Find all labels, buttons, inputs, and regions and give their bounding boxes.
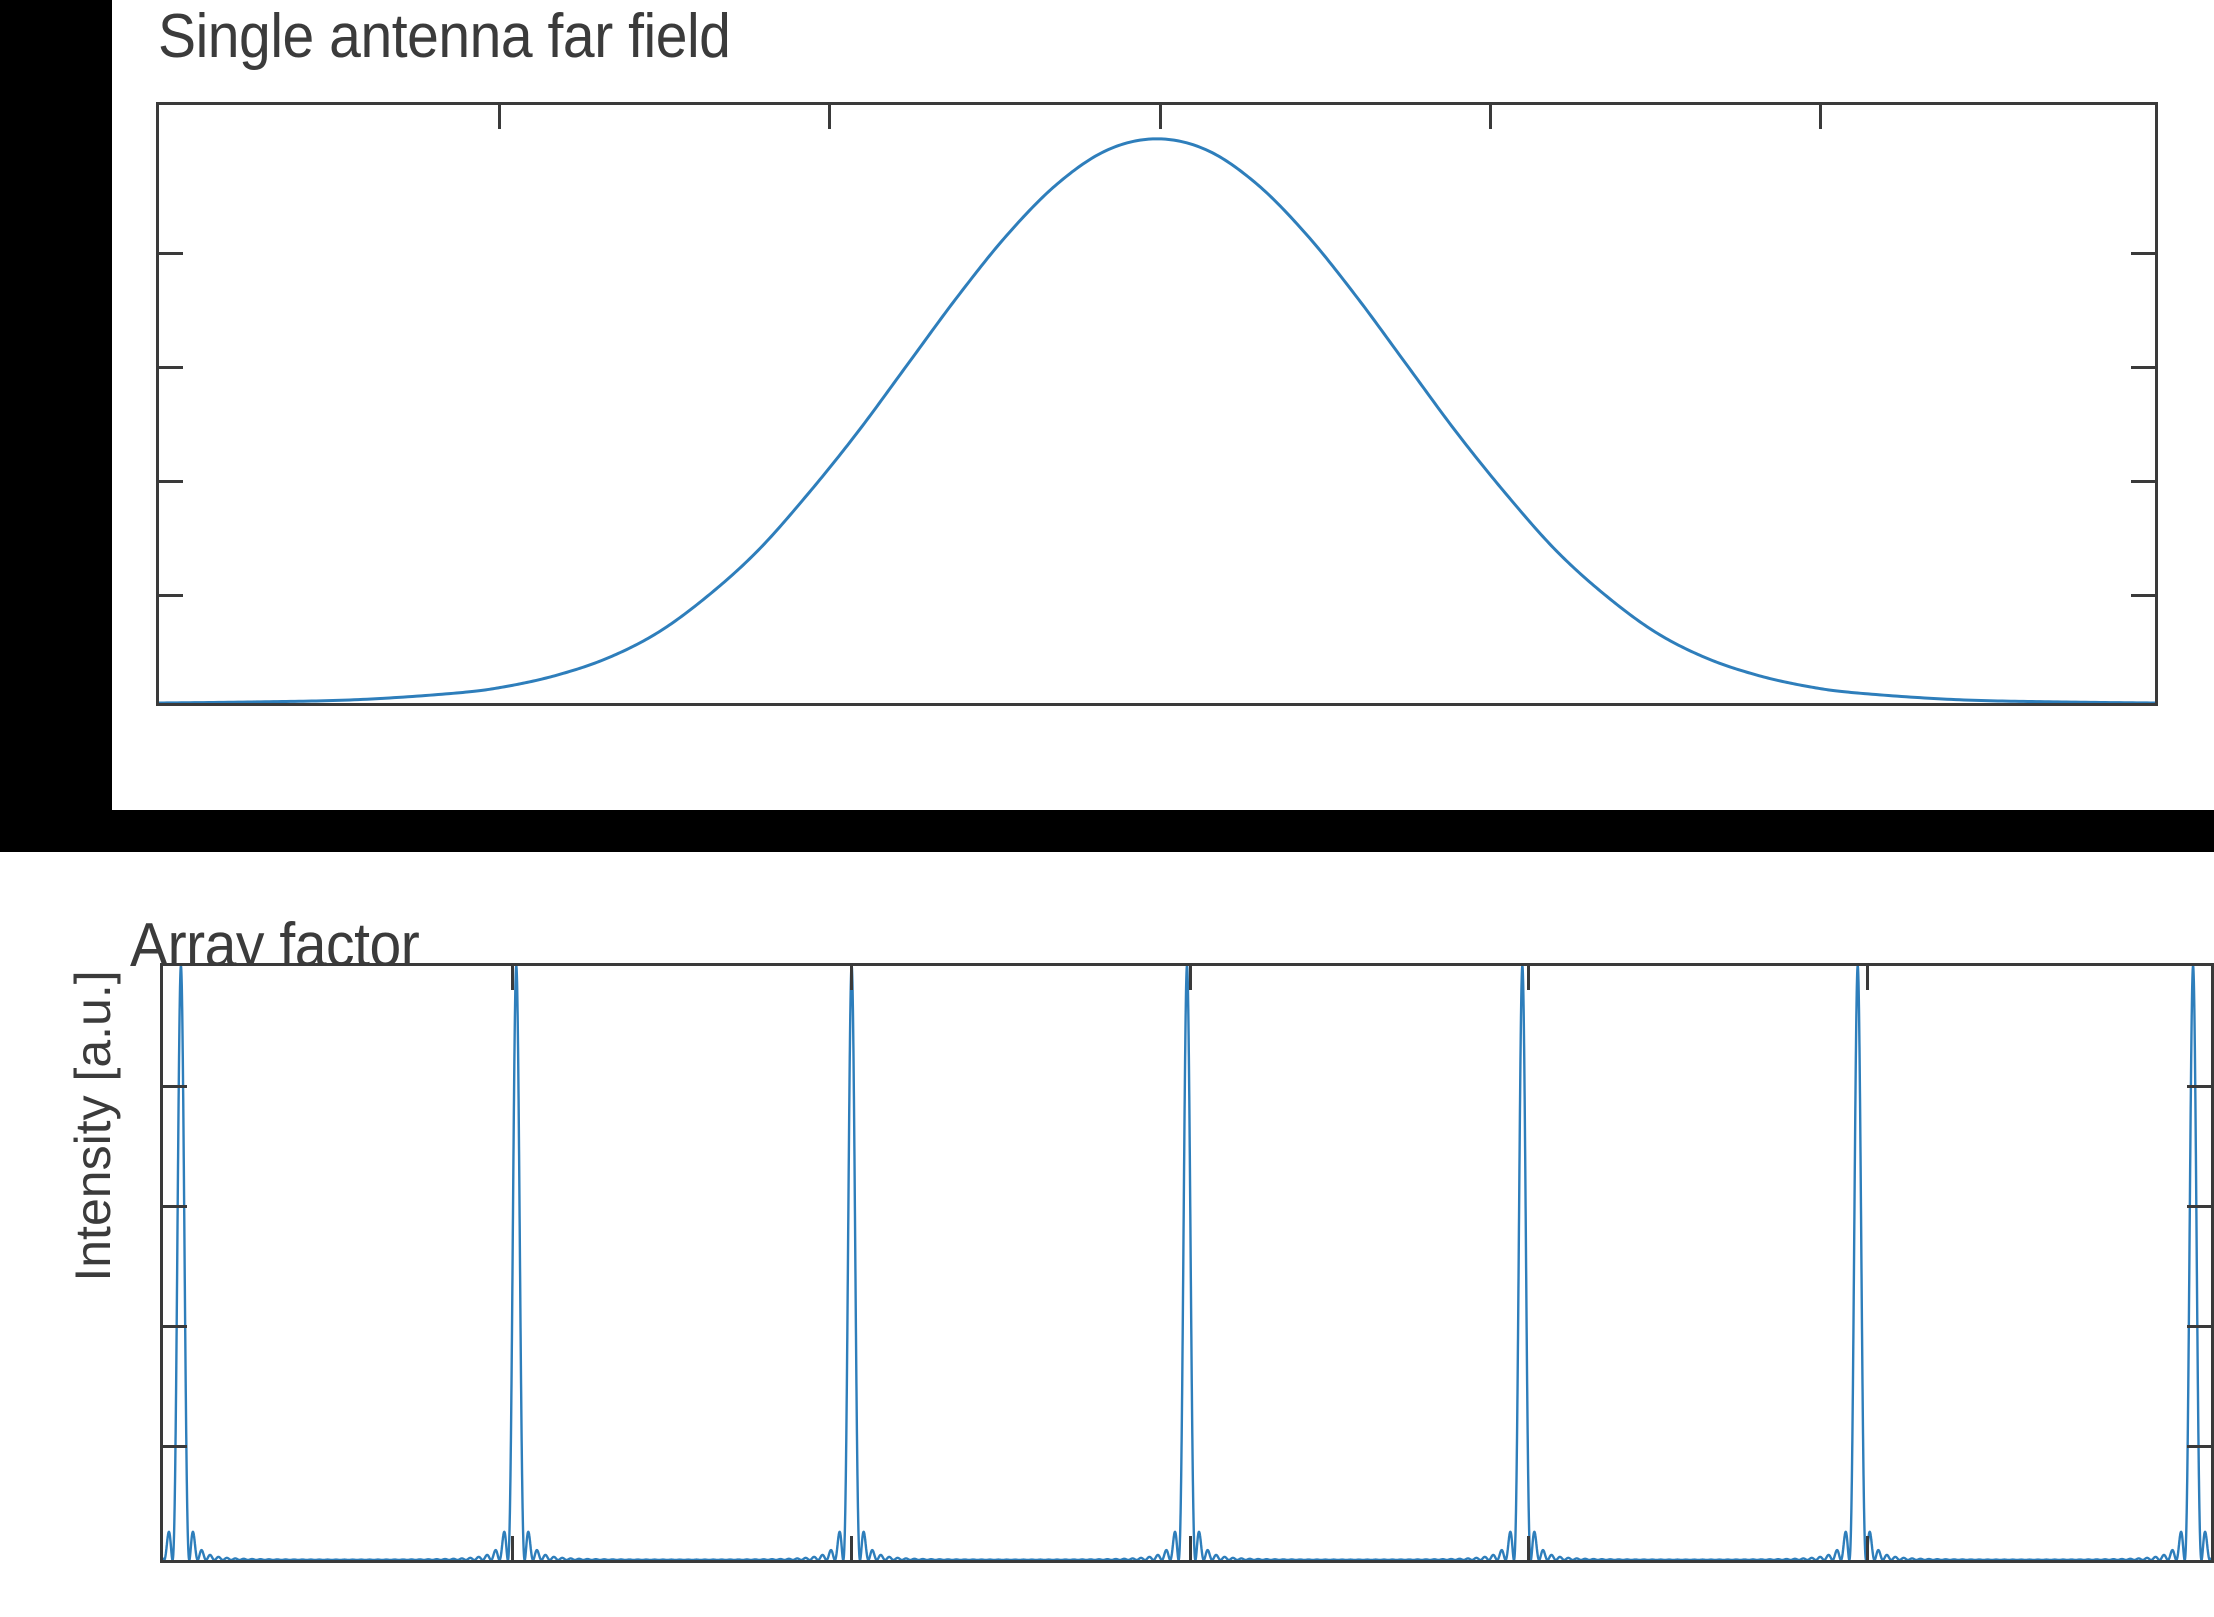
- y-axis-tick: [163, 1205, 187, 1208]
- x-axis-tick: [1819, 105, 1822, 129]
- x-axis-tick: [1489, 105, 1492, 129]
- y-axis-tick: [2131, 594, 2155, 597]
- x-axis-tick: [511, 1536, 514, 1560]
- plot-area-single-antenna: [159, 105, 2155, 703]
- x-axis-tick: [1189, 1536, 1192, 1560]
- x-axis-tick: [1527, 1536, 1530, 1560]
- chart-title-single-antenna: Single antenna far field: [158, 6, 730, 68]
- y-axis-tick: [159, 252, 183, 255]
- y-axis-tick: [2131, 480, 2155, 483]
- x-axis-tick: [850, 1536, 853, 1560]
- y-axis-tick: [2187, 1205, 2211, 1208]
- y-axis-label-array-factor: Intensity [a.u.]: [64, 961, 122, 1291]
- y-axis-tick: [163, 1325, 187, 1328]
- y-axis-tick: [163, 1445, 187, 1448]
- panel-single-antenna: Single antenna far field: [112, 0, 2214, 810]
- data-series-line: [163, 966, 2211, 1560]
- x-axis-tick: [1866, 966, 1869, 990]
- x-axis-tick: [850, 966, 853, 990]
- y-axis-tick: [2131, 366, 2155, 369]
- x-axis-tick: [1159, 105, 1162, 129]
- y-axis-tick: [159, 480, 183, 483]
- x-axis-tick: [1527, 966, 1530, 990]
- x-axis-tick: [1866, 1536, 1869, 1560]
- y-axis-tick: [2187, 1445, 2211, 1448]
- y-axis-tick: [159, 594, 183, 597]
- x-axis-tick: [1189, 966, 1192, 990]
- x-axis-tick: [498, 105, 501, 129]
- plot-area-array-factor: [163, 966, 2211, 1560]
- y-axis-tick: [159, 366, 183, 369]
- y-axis-tick: [2187, 1085, 2211, 1088]
- y-axis-tick: [2187, 1325, 2211, 1328]
- x-axis-tick: [511, 966, 514, 990]
- axes-single-antenna: [156, 102, 2158, 706]
- panel-array-factor: Array factor Intensity [a.u.]: [0, 852, 2214, 1617]
- x-axis-tick: [828, 105, 831, 129]
- axes-array-factor: [160, 963, 2214, 1563]
- data-series-line: [159, 139, 2155, 703]
- y-axis-tick: [163, 1085, 187, 1088]
- y-axis-tick: [2131, 252, 2155, 255]
